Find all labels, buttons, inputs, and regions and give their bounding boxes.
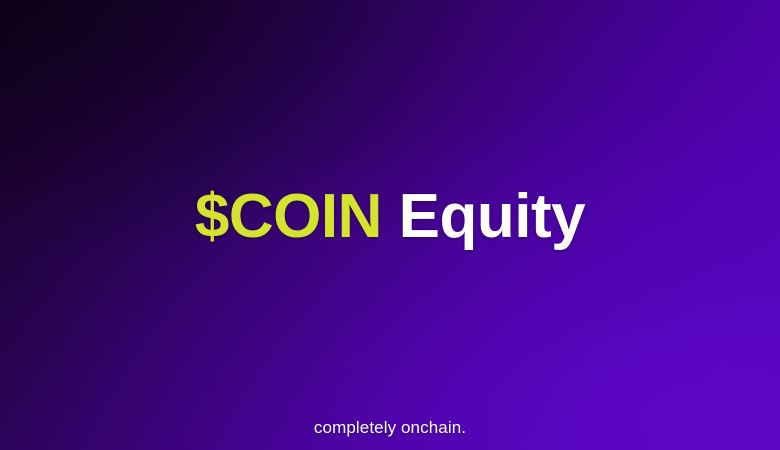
title-word: Equity [399, 182, 585, 251]
page-title: $COIN Equity [0, 186, 780, 248]
hero-slide: $COIN Equity completely onchain. [0, 0, 780, 450]
slide-content: $COIN Equity completely onchain. [0, 0, 780, 450]
title-separator [382, 182, 399, 251]
title-ticker: $COIN [195, 182, 382, 251]
subtitle-tagline: completely onchain. [0, 418, 780, 438]
